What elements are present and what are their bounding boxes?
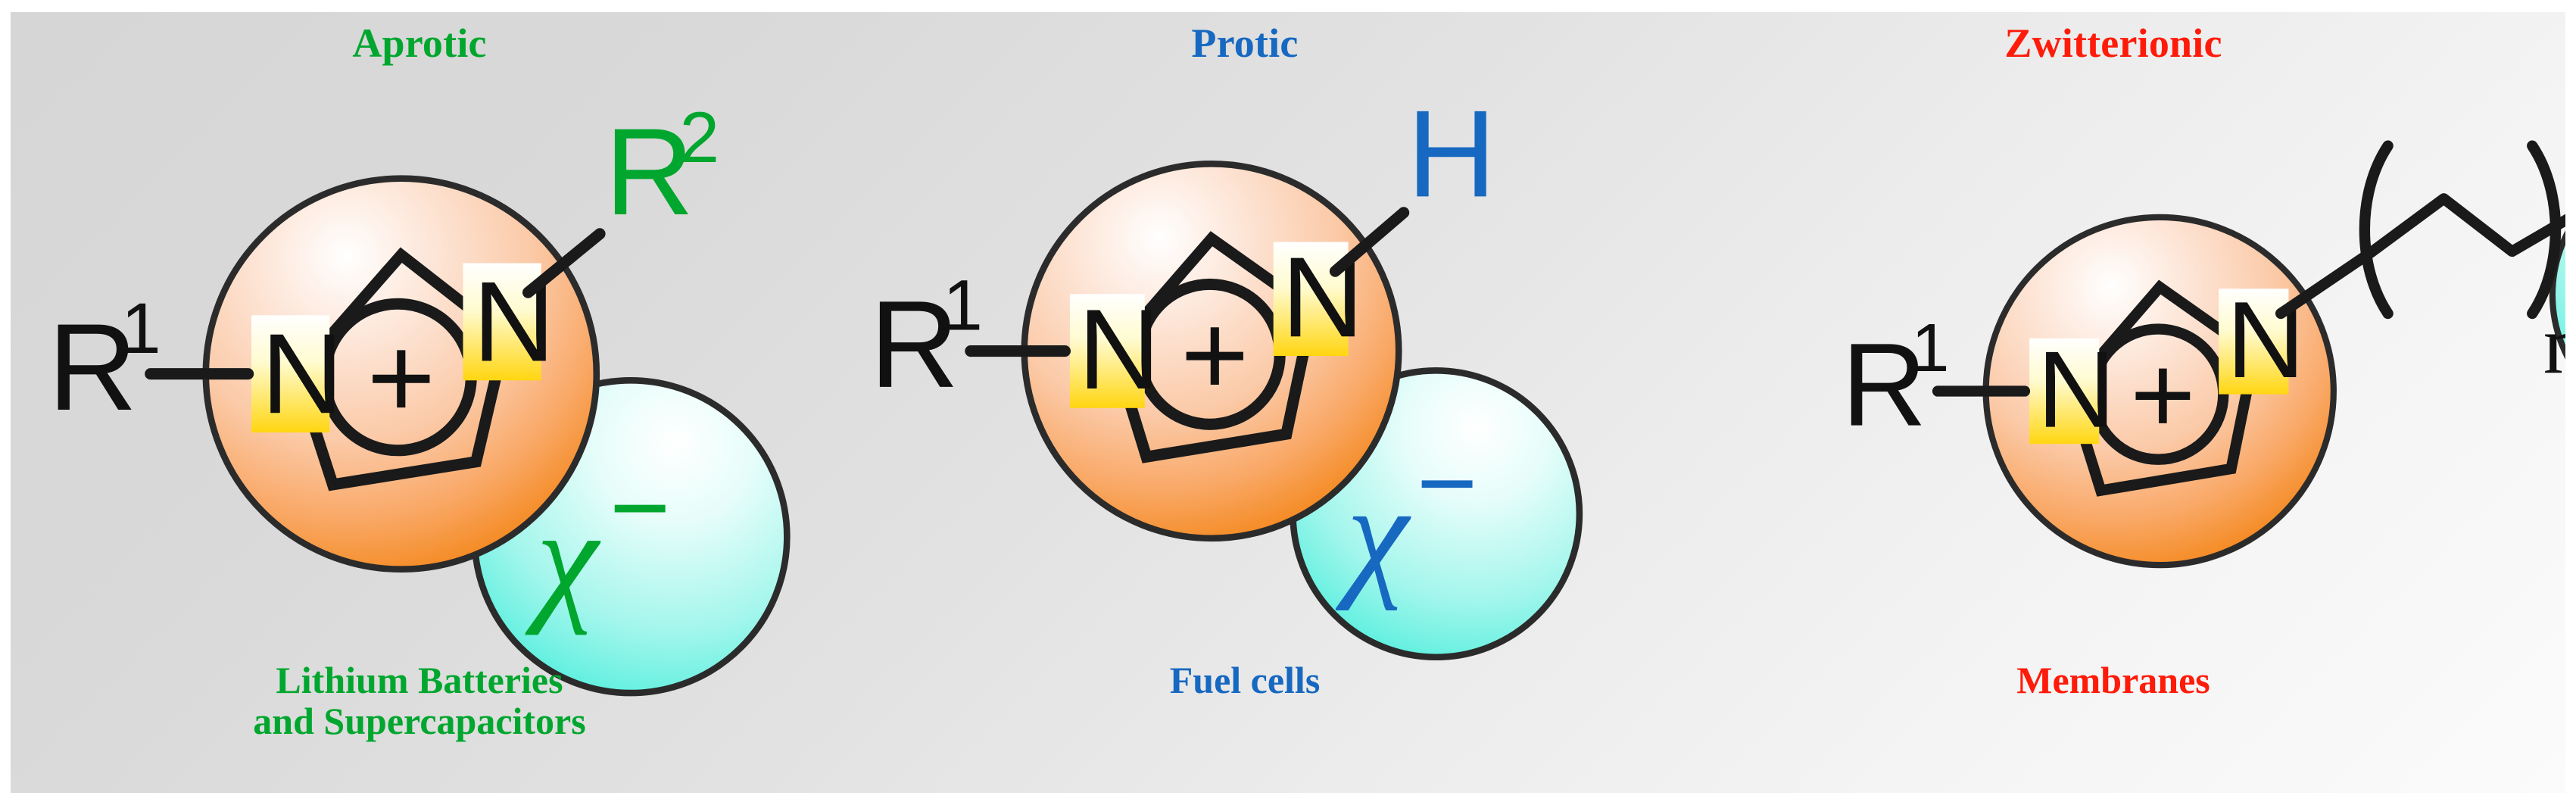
alkyl-linker-zwitterionic — [2281, 198, 2565, 314]
anion-symbol-protic: χ — [1335, 456, 1411, 611]
panel-zwitterionic: Zwitterionic — [1661, 12, 2565, 793]
nitrogen-left-zwitterionic: N — [2037, 329, 2116, 451]
nitrogen-left-protic: N — [1078, 285, 1161, 413]
repeat-subscript-zwitterionic: n — [2543, 298, 2565, 391]
cation-charge-protic: + — [1180, 289, 1249, 420]
molecule-zwitterionic-render: N N + R 1 n χ − — [1661, 12, 2565, 709]
substituent-r1-sup-aprotic: 1 — [121, 289, 161, 369]
cation-charge-zwitterionic: + — [2130, 332, 2195, 457]
substituent-r1-sup-zwitterionic: 1 — [1911, 310, 1949, 386]
panel-caption-protic: Fuel cells — [828, 660, 1661, 700]
figure-canvas: Aprotic — [11, 12, 2565, 793]
panel-caption-zwitterionic: Membranes — [1661, 660, 2565, 700]
substituent-h-protic: H — [1407, 84, 1496, 223]
repeat-paren-left-zwitterionic — [2365, 146, 2388, 314]
substituent-r1-sup-protic: 1 — [943, 266, 983, 346]
nitrogen-right-zwitterionic: N — [2226, 279, 2305, 401]
panel-protic: Protic — [828, 12, 1661, 793]
molecule-protic-render: N N + R 1 H χ − — [828, 12, 1661, 709]
anion-charge-protic: − — [1417, 425, 1477, 541]
